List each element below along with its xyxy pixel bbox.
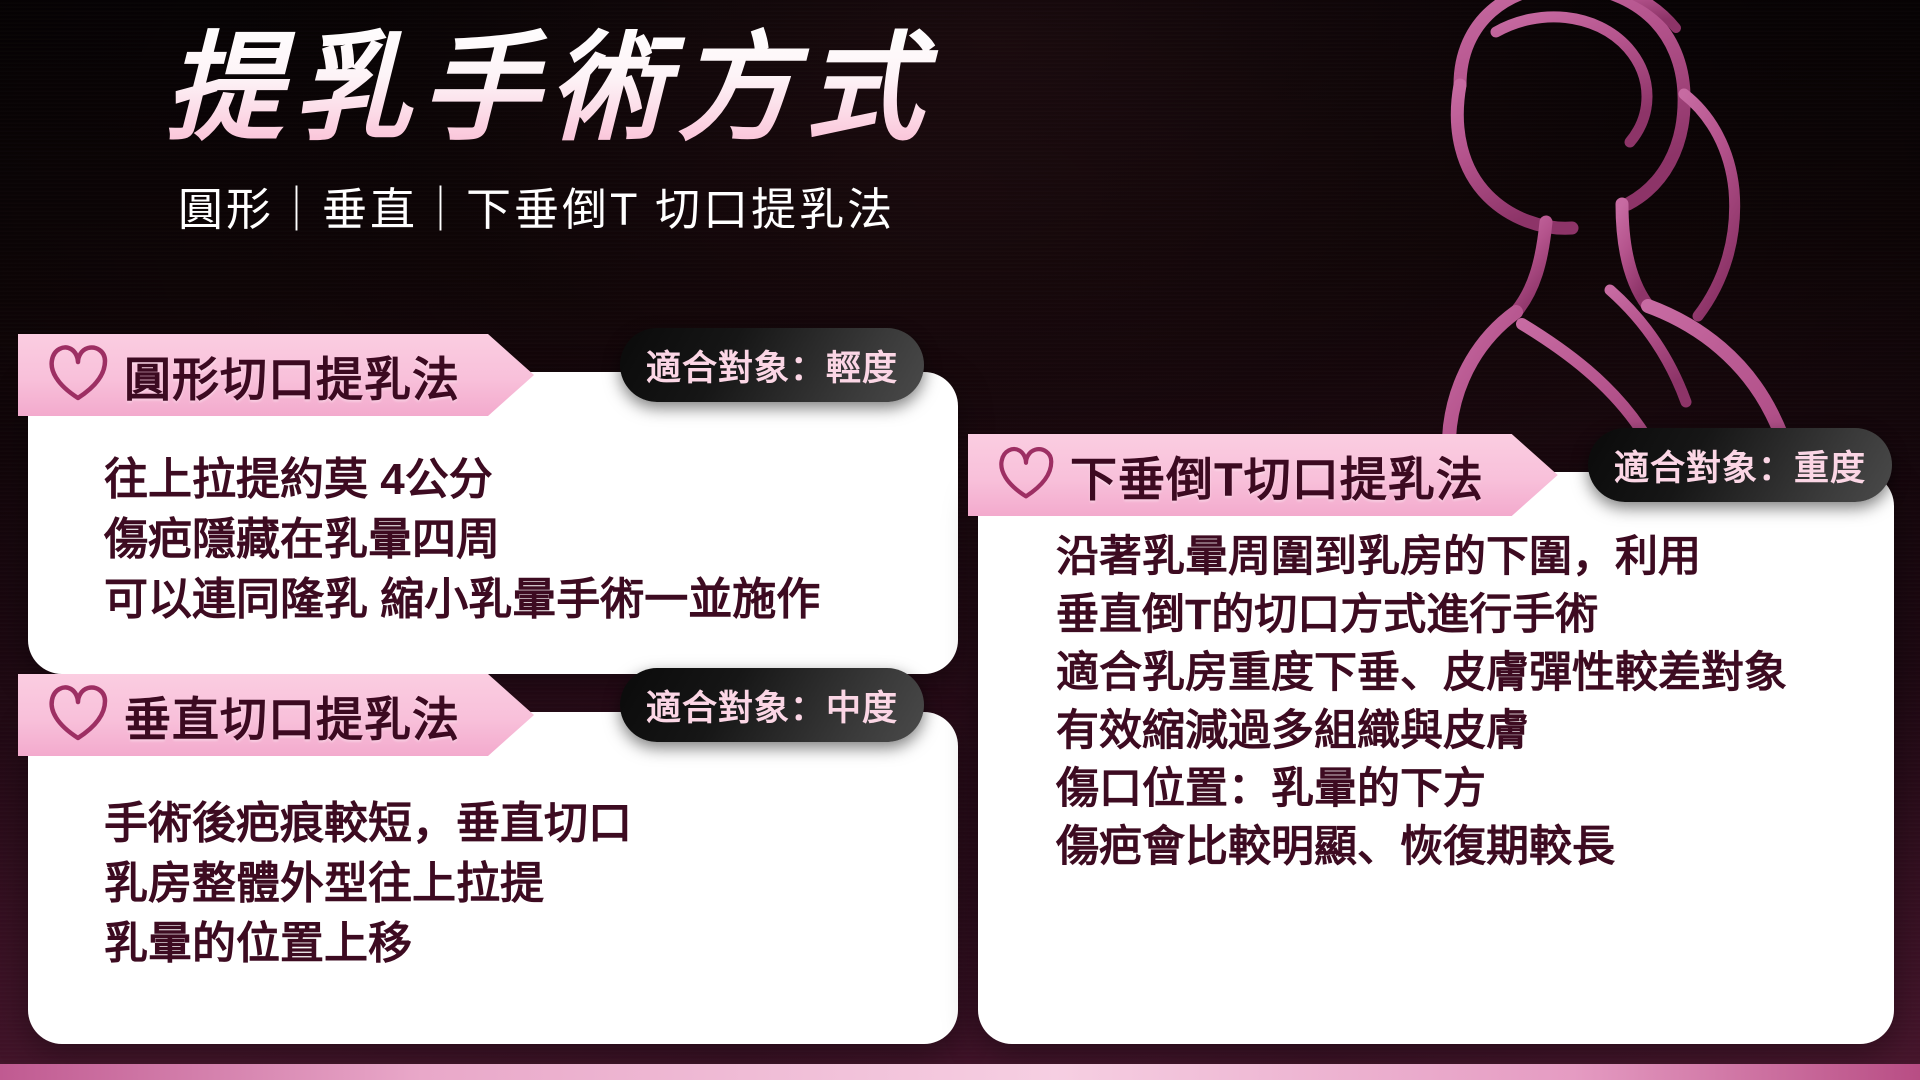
status-badge-vertical: 適合對象：中度 — [620, 668, 924, 742]
card-title-inverted-t: 下垂倒T切口提乳法 — [1070, 441, 1484, 510]
body-line: 垂直倒T的切口方式進行手術 — [1056, 586, 1860, 644]
body-line: 可以連同隆乳 縮小乳暈手術一並施作 — [104, 570, 924, 630]
card-vertical-incision: 適合對象：中度 垂直切口提乳法 手術後疤痕較短，垂直切口 乳房整體外型往上拉提 … — [28, 712, 958, 1044]
body-line: 手術後疤痕較短，垂直切口 — [104, 794, 924, 854]
card-inverted-t-incision: 適合對象：重度 下垂倒T切口提乳法 沿著乳暈周圍到乳房的下圍，利用 垂直倒T的切… — [978, 472, 1894, 1044]
card-title-vertical: 垂直切口提乳法 — [124, 681, 460, 750]
card-banner-inverted-t: 下垂倒T切口提乳法 — [968, 434, 1558, 516]
card-body-round: 往上拉提約莫 4公分 傷疤隱藏在乳暈四周 可以連同隆乳 縮小乳暈手術一並施作 — [104, 450, 924, 630]
heart-outline-icon — [996, 444, 1056, 507]
card-round-incision: 適合對象：輕度 圓形切口提乳法 往上拉提約莫 4公分 傷疤隱藏在乳暈四周 可以連… — [28, 372, 958, 674]
bottom-accent-bar — [0, 1064, 1920, 1080]
header: 提乳手術方式 圓形｜垂直｜下垂倒T 切口提乳法 — [0, 0, 1160, 238]
card-title-round: 圓形切口提乳法 — [124, 341, 460, 410]
status-badge-round: 適合對象：輕度 — [620, 328, 924, 402]
page-title: 提乳手術方式 — [0, 18, 1160, 157]
card-banner-vertical: 垂直切口提乳法 — [18, 674, 534, 756]
page-subtitle: 圓形｜垂直｜下垂倒T 切口提乳法 — [0, 173, 1160, 238]
body-line: 乳房整體外型往上拉提 — [104, 854, 924, 914]
card-banner-round: 圓形切口提乳法 — [18, 334, 534, 416]
card-body-inverted-t: 沿著乳暈周圍到乳房的下圍，利用 垂直倒T的切口方式進行手術 適合乳房重度下垂、皮… — [1056, 528, 1860, 876]
body-line: 傷疤隱藏在乳暈四周 — [104, 510, 924, 570]
body-line: 有效縮減過多組織與皮膚 — [1056, 702, 1860, 760]
body-line: 適合乳房重度下垂、皮膚彈性較差對象 — [1056, 644, 1860, 702]
heart-outline-icon — [46, 682, 110, 749]
status-badge-label: 適合對象：輕度 — [646, 340, 898, 391]
body-line: 傷口位置：乳暈的下方 — [1056, 760, 1860, 818]
body-line: 沿著乳暈周圍到乳房的下圍，利用 — [1056, 528, 1860, 586]
body-line: 乳暈的位置上移 — [104, 914, 924, 974]
status-badge-inverted-t: 適合對象：重度 — [1588, 428, 1892, 502]
body-line: 傷疤會比較明顯、恢復期較長 — [1056, 818, 1860, 876]
heart-outline-icon — [46, 342, 110, 409]
status-badge-label: 適合對象：中度 — [646, 680, 898, 731]
status-badge-label: 適合對象：重度 — [1614, 440, 1866, 491]
body-line: 往上拉提約莫 4公分 — [104, 450, 924, 510]
card-body-vertical: 手術後疤痕較短，垂直切口 乳房整體外型往上拉提 乳暈的位置上移 — [104, 794, 924, 974]
